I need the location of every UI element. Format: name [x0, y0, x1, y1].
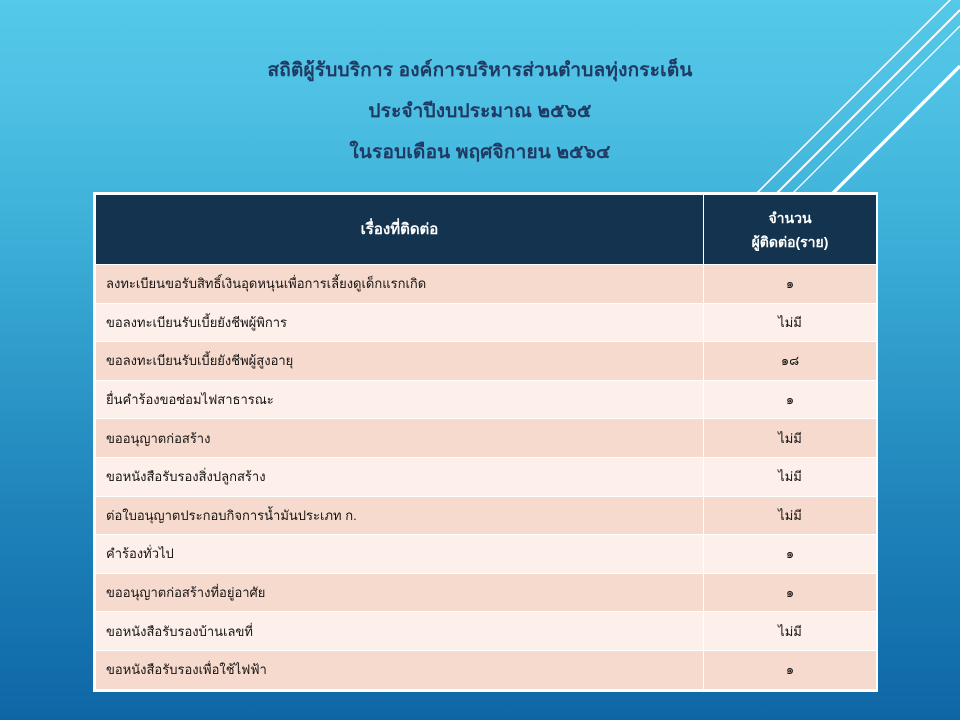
slide-title: สถิติผู้รับบริการ องค์การบริหารส่วนตำบลท… [0, 60, 960, 163]
cell-topic: ขออนุญาตก่อสร้างที่อยู่อาศัย [96, 573, 704, 612]
cell-topic: ขอลงทะเบียนรับเบี้ยยังชีพผู้พิการ [96, 303, 704, 342]
table-row: ขออนุญาตก่อสร้างไม่มี [96, 419, 877, 458]
cell-count: ไม่มี [704, 303, 877, 342]
cell-count: ไม่มี [704, 419, 877, 458]
table-row: ต่อใบอนุญาตประกอบกิจการน้ำมันประเภท ก.ไม… [96, 496, 877, 535]
title-line-3: ในรอบเดือน พฤศจิกายน ๒๕๖๔ [0, 142, 960, 163]
cell-topic: ขออนุญาตก่อสร้าง [96, 419, 704, 458]
cell-count: ๑ [704, 380, 877, 419]
column-header-topic: เรื่องที่ติดต่อ [96, 195, 704, 265]
cell-topic: ลงทะเบียนขอรับสิทธิ์เงินอุดหนุนเพื่อการเ… [96, 265, 704, 304]
statistics-table-container: เรื่องที่ติดต่อ จำนวน ผู้ติดต่อ(ราย) ลงท… [93, 192, 878, 692]
cell-topic: ขอลงทะเบียนรับเบี้ยยังชีพผู้สูงอายุ [96, 342, 704, 381]
title-line-2: ประจำปีงบประมาณ ๒๕๖๕ [0, 101, 960, 122]
table-row: ขอหนังสือรับรองบ้านเลขที่ไม่มี [96, 612, 877, 651]
statistics-table: เรื่องที่ติดต่อ จำนวน ผู้ติดต่อ(ราย) ลงท… [95, 194, 877, 690]
cell-topic: คำร้องทั่วไป [96, 535, 704, 574]
table-row: ขอหนังสือรับรองเพื่อใช้ไฟฟ้า๑ [96, 650, 877, 689]
cell-topic: ขอหนังสือรับรองบ้านเลขที่ [96, 612, 704, 651]
cell-count: ไม่มี [704, 457, 877, 496]
cell-topic: ยื่นคำร้องขอซ่อมไฟสาธารณะ [96, 380, 704, 419]
table-row: ยื่นคำร้องขอซ่อมไฟสาธารณะ๑ [96, 380, 877, 419]
title-line-1: สถิติผู้รับบริการ องค์การบริหารส่วนตำบลท… [0, 60, 960, 81]
table-head: เรื่องที่ติดต่อ จำนวน ผู้ติดต่อ(ราย) [96, 195, 877, 265]
cell-count: ไม่มี [704, 496, 877, 535]
cell-count: ๑ [704, 535, 877, 574]
cell-count: ไม่มี [704, 612, 877, 651]
table-row: ลงทะเบียนขอรับสิทธิ์เงินอุดหนุนเพื่อการเ… [96, 265, 877, 304]
column-header-count-line1: จำนวน [710, 206, 870, 230]
table-body: ลงทะเบียนขอรับสิทธิ์เงินอุดหนุนเพื่อการเ… [96, 265, 877, 690]
cell-topic: ขอหนังสือรับรองเพื่อใช้ไฟฟ้า [96, 650, 704, 689]
cell-topic: ต่อใบอนุญาตประกอบกิจการน้ำมันประเภท ก. [96, 496, 704, 535]
table-row: ขออนุญาตก่อสร้างที่อยู่อาศัย๑ [96, 573, 877, 612]
table-row: คำร้องทั่วไป๑ [96, 535, 877, 574]
cell-topic: ขอหนังสือรับรองสิ่งปลูกสร้าง [96, 457, 704, 496]
table-header-row: เรื่องที่ติดต่อ จำนวน ผู้ติดต่อ(ราย) [96, 195, 877, 265]
column-header-count-line2: ผู้ติดต่อ(ราย) [710, 230, 870, 254]
table-row: ขอหนังสือรับรองสิ่งปลูกสร้างไม่มี [96, 457, 877, 496]
column-header-count: จำนวน ผู้ติดต่อ(ราย) [704, 195, 877, 265]
cell-count: ๑ [704, 265, 877, 304]
table-row: ขอลงทะเบียนรับเบี้ยยังชีพผู้สูงอายุ๑๘ [96, 342, 877, 381]
cell-count: ๑๘ [704, 342, 877, 381]
cell-count: ๑ [704, 573, 877, 612]
table-row: ขอลงทะเบียนรับเบี้ยยังชีพผู้พิการไม่มี [96, 303, 877, 342]
cell-count: ๑ [704, 650, 877, 689]
